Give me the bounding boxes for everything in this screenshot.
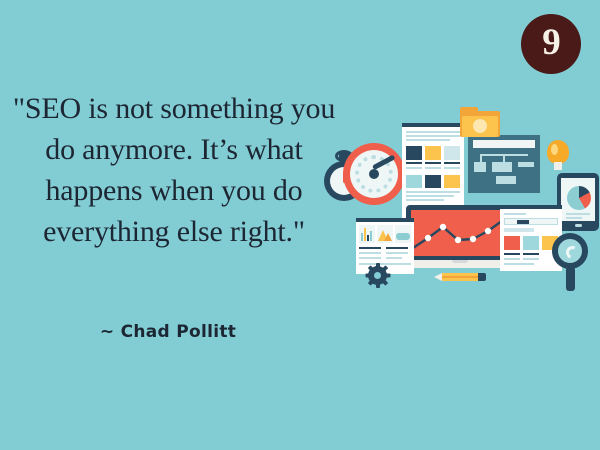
quote-attribution: ~ Chad Pollitt: [8, 322, 328, 342]
sitemap-node: [518, 162, 534, 167]
page-line: [444, 167, 460, 169]
sitemap-link: [480, 154, 482, 162]
tablet-line: [566, 217, 582, 219]
dashboard-map-widget: [395, 225, 411, 243]
dashboard-line: [359, 257, 381, 259]
tablet-line: [566, 213, 590, 215]
seo-illustration: [320, 105, 600, 305]
magnifier-handle: [566, 267, 575, 291]
page-block: [425, 175, 441, 188]
dashboard-line: [359, 247, 381, 249]
page-block: [406, 175, 422, 188]
folder-icon: [460, 107, 500, 139]
lightbulb-glass: [547, 140, 569, 164]
folder-network-icon: [473, 119, 487, 133]
line-chart: [411, 210, 509, 256]
gauge-hub: [369, 169, 379, 179]
serp-line: [504, 228, 534, 232]
pencil-tip: [434, 273, 442, 281]
pencil-icon: [434, 273, 486, 281]
laptop-trackpad-notch: [452, 260, 468, 263]
tablet-screen: [561, 178, 595, 221]
quote-text: "SEO is not something you do anymore. It…: [8, 88, 340, 252]
pencil-end: [478, 273, 486, 281]
serp-line: [523, 258, 539, 260]
tablet-home-button: [575, 224, 582, 227]
number-badge: 9: [521, 14, 581, 74]
dashboard-widgets: [359, 225, 411, 243]
magnifying-glass-icon: [552, 233, 592, 291]
serp-line: [504, 258, 520, 260]
pie-chart: [567, 186, 591, 210]
serp-line: [523, 253, 539, 255]
sitemap-node: [474, 162, 486, 172]
tablet-icon: [557, 173, 599, 231]
dashboard-line: [359, 252, 381, 254]
page-line: [425, 162, 441, 164]
lightbulb-highlight: [551, 144, 558, 155]
pencil-stripe: [442, 276, 478, 278]
gear-hole: [374, 272, 381, 279]
serp-line: [504, 253, 520, 255]
laptop-icon: [406, 205, 514, 270]
page-block: [406, 146, 422, 160]
serp-line: [504, 213, 526, 215]
laptop-body: [406, 205, 514, 261]
serp-search-bar: [504, 218, 558, 225]
badge-number: 9: [542, 24, 560, 64]
gear-icon: [368, 266, 387, 285]
sitemap-node: [496, 176, 516, 184]
page-line: [444, 162, 460, 164]
sitemap-panel-icon: [468, 135, 540, 193]
speed-gauge-icon: [343, 143, 405, 205]
page-block: [444, 146, 460, 160]
serp-block: [504, 236, 520, 250]
page-line: [406, 162, 422, 164]
page-line: [425, 167, 441, 169]
page-line: [406, 191, 460, 193]
dashboard-line: [386, 247, 408, 249]
page-block: [425, 146, 441, 160]
serp-line: [504, 263, 534, 265]
page-line: [406, 139, 450, 141]
page-line: [406, 131, 460, 133]
page-block: [444, 175, 460, 188]
quote-card: 9 "SEO is not something you do anymore. …: [0, 0, 600, 450]
sitemap-link: [503, 154, 505, 162]
lightbulb-icon: [547, 140, 569, 174]
serp-block: [523, 236, 539, 250]
dashboard-area-widget: [377, 225, 393, 243]
dashboard-line: [386, 257, 402, 259]
sitemap-top-bar: [473, 140, 535, 148]
dashboard-bar-widget: [359, 225, 375, 243]
dashboard-line: [386, 252, 408, 254]
page-line: [406, 199, 444, 201]
lightbulb-base: [554, 162, 562, 170]
page-line: [406, 195, 454, 197]
sitemap-node: [492, 162, 512, 172]
laptop-screen: [411, 210, 509, 256]
magnifier-glare: [564, 244, 581, 261]
page-line: [406, 167, 422, 169]
magnifier-ring: [552, 233, 588, 269]
page-line: [406, 135, 460, 137]
